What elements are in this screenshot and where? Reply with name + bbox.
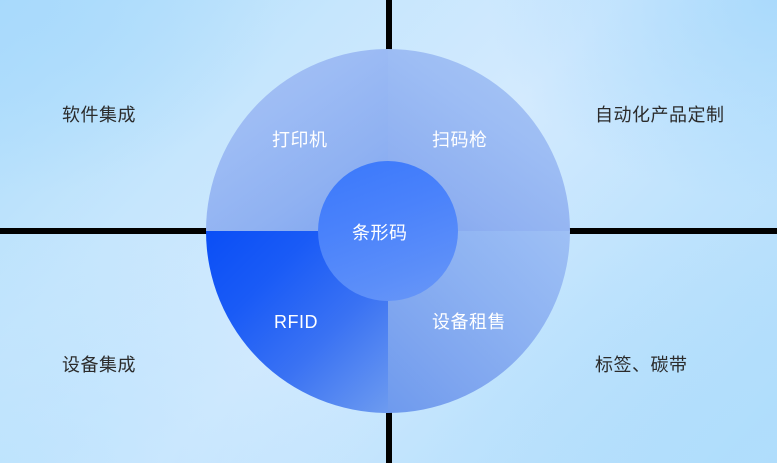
outer-label-software-integration: 软件集成: [62, 106, 136, 124]
diagram-canvas: 条形码 打印机 扫码枪 RFID 设备租售 软件集成 自动化产品定制 设备集成 …: [0, 0, 777, 463]
outer-label-device-integration: 设备集成: [62, 356, 136, 374]
quadrant-label-equipment-rental: 设备租售: [432, 313, 506, 331]
quadrant-label-printer: 打印机: [272, 131, 328, 149]
quadrant-label-rfid: RFID: [274, 313, 318, 331]
center-hub-label: 条形码: [352, 224, 408, 242]
outer-label-automation-customization: 自动化产品定制: [595, 106, 725, 124]
outer-label-tag-ribbon: 标签、碳带: [595, 356, 688, 374]
quadrant-label-scanner: 扫码枪: [432, 131, 488, 149]
